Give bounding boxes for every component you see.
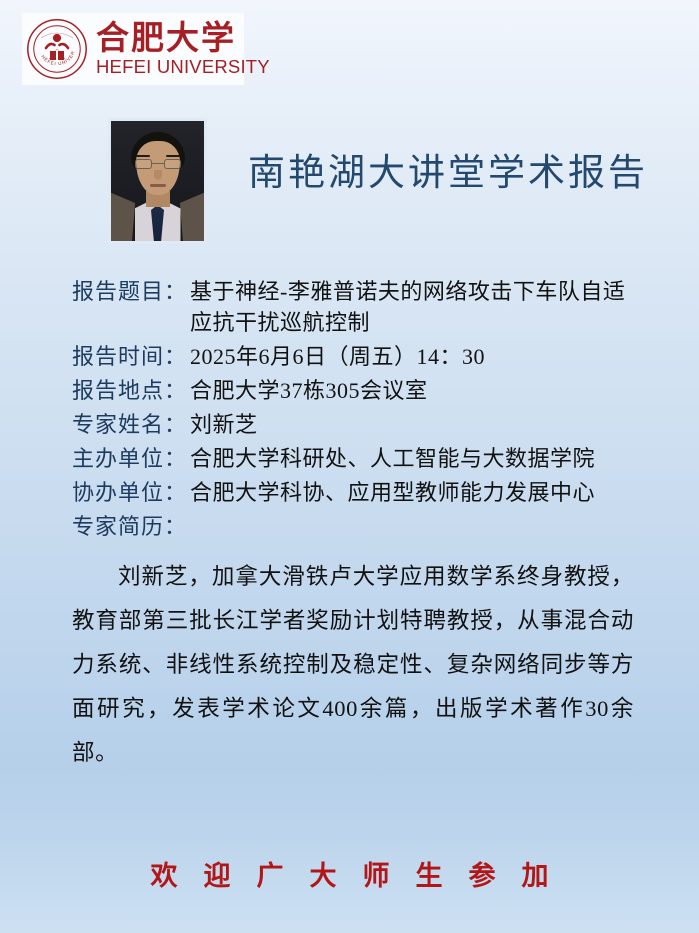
- portrait-mouth: [150, 184, 166, 187]
- portrait-glasses-icon: [135, 159, 181, 169]
- info-value-place: 合肥大学37栋305会议室: [190, 375, 652, 406]
- speaker-portrait: [108, 118, 207, 244]
- portrait-nose: [154, 170, 162, 180]
- info-row-host: 主办单位： 合肥大学科研处、人工智能与大数据学院: [72, 443, 652, 474]
- info-row-speaker: 专家姓名： 刘新芝: [72, 409, 652, 440]
- info-row-cohost: 协办单位： 合肥大学科协、应用型教师能力发展中心: [72, 477, 652, 508]
- welcome-footer: 欢迎广大师生参加: [0, 856, 699, 896]
- info-list: 报告题目： 基于神经-李雅普诺夫的网络攻击下车队自适 应抗干扰巡航控制 报告时间…: [72, 276, 652, 511]
- info-row-time: 报告时间： 2025年6月6日（周五）14：30: [72, 341, 652, 372]
- portrait-lens-left: [135, 159, 152, 169]
- info-value-cohost: 合肥大学科协、应用型教师能力发展中心: [190, 477, 652, 508]
- hefei-university-seal-icon: HEFEI UNIVERSITY: [26, 18, 88, 80]
- info-label-speaker: 专家姓名：: [72, 409, 190, 440]
- portrait-image: [111, 121, 204, 241]
- lecture-poster: HEFEI UNIVERSITY 合肥大学 HEFEI UNIVERSITY: [0, 0, 699, 933]
- poster-title: 南艳湖大讲堂学术报告: [248, 150, 648, 198]
- university-name-en: HEFEI UNIVERSITY: [96, 57, 270, 77]
- info-value-topic-line1: 基于神经-李雅普诺夫的网络攻击下车队自适: [190, 279, 625, 304]
- info-label-topic: 报告题目：: [72, 276, 190, 307]
- info-value-host: 合肥大学科研处、人工智能与大数据学院: [190, 443, 652, 474]
- info-label-time: 报告时间：: [72, 341, 190, 372]
- info-value-topic-line2: 应抗干扰巡航控制: [190, 307, 652, 338]
- bio-text: 刘新芝，加拿大滑铁卢大学应用数学系终身教授，教育部第三批长江学者奖励计划特聘教授…: [72, 555, 634, 775]
- university-name-cn: 合肥大学: [96, 21, 270, 57]
- info-label-cohost: 协办单位：: [72, 477, 190, 508]
- info-row-place: 报告地点： 合肥大学37栋305会议室: [72, 375, 652, 406]
- info-value-topic: 基于神经-李雅普诺夫的网络攻击下车队自适 应抗干扰巡航控制: [190, 276, 652, 338]
- info-row-topic: 报告题目： 基于神经-李雅普诺夫的网络攻击下车队自适 应抗干扰巡航控制: [72, 276, 652, 338]
- university-logo-block: HEFEI UNIVERSITY 合肥大学 HEFEI UNIVERSITY: [22, 13, 244, 85]
- bio-label: 专家简历：: [72, 511, 187, 542]
- info-value-speaker: 刘新芝: [190, 409, 652, 440]
- portrait-glasses-bridge: [152, 163, 164, 164]
- portrait-lens-right: [164, 159, 181, 169]
- info-label-place: 报告地点：: [72, 375, 190, 406]
- university-wordmark: 合肥大学 HEFEI UNIVERSITY: [96, 21, 270, 77]
- info-label-host: 主办单位：: [72, 443, 190, 474]
- info-value-time: 2025年6月6日（周五）14：30: [190, 341, 652, 372]
